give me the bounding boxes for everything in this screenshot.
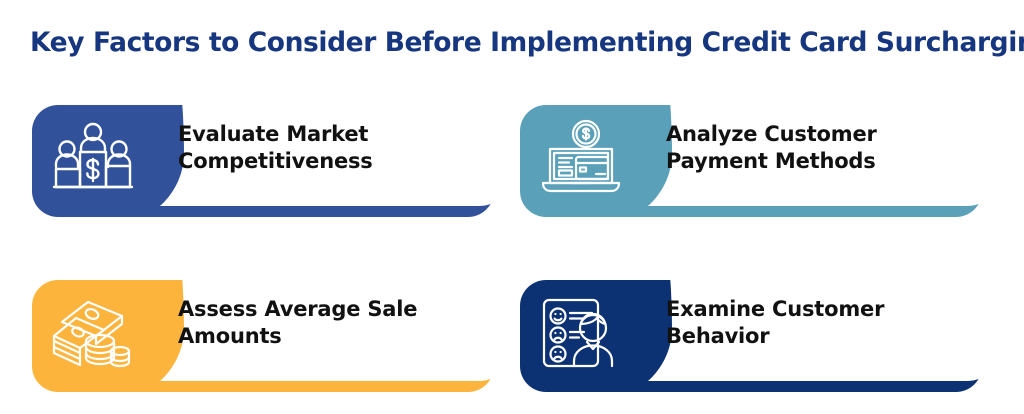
page-title: Key Factors to Consider Before Implement… bbox=[30, 26, 1000, 60]
card-evaluate-market-competitiveness[interactable]: Evaluate Market Competitiveness bbox=[32, 101, 504, 218]
card-label: Analyze Customer Payment Methods bbox=[666, 121, 966, 175]
infographic-canvas: Key Factors to Consider Before Implement… bbox=[0, 0, 1024, 414]
laptop-credit-card-coin-icon bbox=[538, 119, 624, 201]
card-label: Examine Customer Behavior bbox=[666, 296, 966, 350]
cash-stack-coins-icon bbox=[50, 294, 136, 376]
survey-feedback-person-icon bbox=[538, 294, 624, 376]
card-examine-customer-behavior[interactable]: Examine Customer Behavior bbox=[520, 276, 992, 393]
card-label: Assess Average Sale Amounts bbox=[178, 296, 478, 350]
card-analyze-customer-payment-methods[interactable]: Analyze Customer Payment Methods bbox=[520, 101, 992, 218]
card-assess-average-sale-amounts[interactable]: Assess Average Sale Amounts bbox=[32, 276, 504, 393]
podium-people-dollar-icon bbox=[50, 119, 136, 201]
key-factors-card-grid: Evaluate Market Competitiveness bbox=[0, 97, 1024, 397]
card-label: Evaluate Market Competitiveness bbox=[178, 121, 478, 175]
